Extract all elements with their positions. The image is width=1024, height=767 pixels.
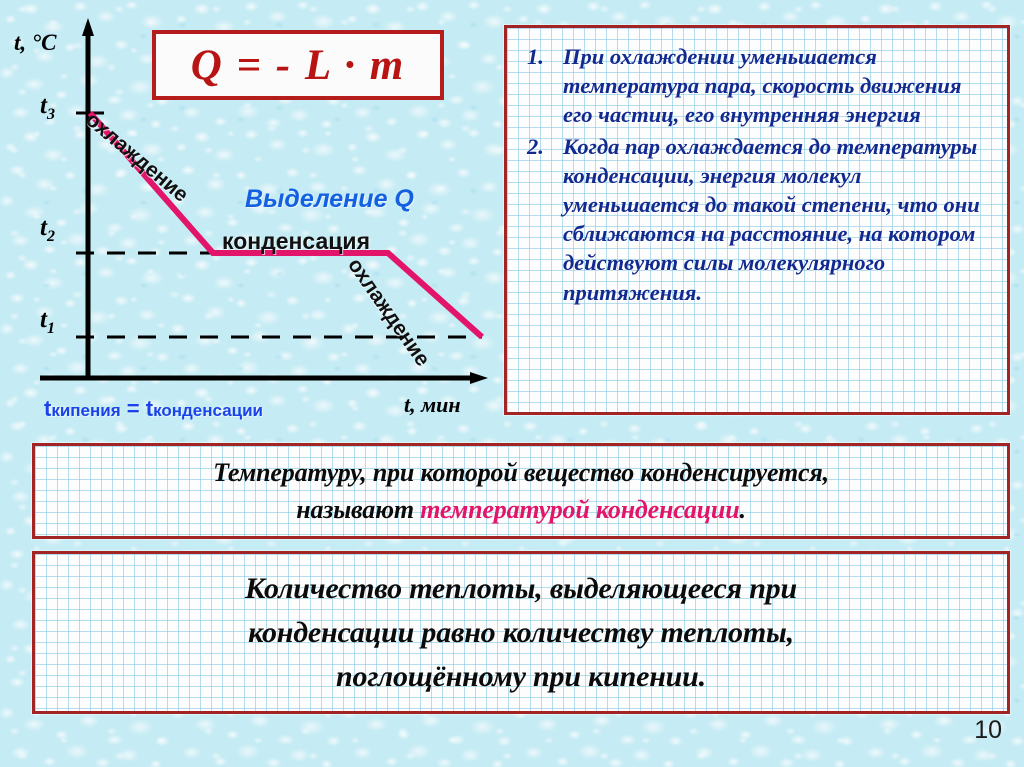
list-item-text: Когда пар охлаждается до температуры кон… — [563, 134, 980, 305]
y-tick-label-t2: t2 — [40, 214, 55, 246]
formula-box: Q = - L · m — [152, 30, 444, 100]
explanation-list: 1. При охлаждении уменьшается температур… — [507, 28, 1007, 307]
definition-panel: Температуру, при которой вещество конден… — [32, 443, 1010, 539]
definition-line-1: Температуру, при которой вещество конден… — [213, 454, 829, 491]
t2-subscript: 2 — [47, 228, 55, 245]
t3-letter: t — [40, 92, 47, 119]
definition-suffix: . — [739, 495, 745, 524]
list-item-text: При охлаждении уменьшается температура п… — [563, 44, 961, 127]
conclusion-line-2: конденсации равно количеству теплоты, — [248, 611, 794, 655]
definition-prefix: называют — [296, 495, 420, 524]
y-axis-arrow — [82, 18, 94, 36]
t2-letter: t — [40, 214, 47, 241]
t3-subscript: 3 — [47, 106, 55, 123]
conclusion-line-1: Количество теплоты, выделяющееся при — [245, 567, 797, 611]
formula-text: Q = - L · m — [191, 41, 406, 90]
boil-sub: кипения — [51, 401, 120, 420]
x-axis-label: t, мин — [404, 392, 461, 418]
page-number: 10 — [974, 716, 1002, 745]
y-axis-label: t, °C — [14, 30, 56, 56]
conclusion-panel: Количество теплоты, выделяющееся при кон… — [32, 551, 1010, 714]
definition-highlight: температурой конденсации — [420, 495, 739, 524]
y-tick-label-t3: t3 — [40, 92, 55, 124]
x-axis-arrow — [470, 372, 488, 384]
definition-content: Температуру, при которой вещество конден… — [35, 446, 1007, 536]
annotation-condensation: конденсация — [222, 228, 370, 255]
explanation-panel: 1. При охлаждении уменьшается температур… — [504, 25, 1010, 415]
cond-sub: конденсации — [153, 401, 263, 420]
y-tick-label-t1: t1 — [40, 306, 55, 338]
cooling-curve-line — [90, 113, 482, 337]
annotation-release-q: Выделение Q — [245, 185, 414, 214]
t1-subscript: 1 — [47, 320, 55, 337]
list-item-number: 1. — [527, 42, 544, 71]
equals-t: = t — [127, 396, 153, 421]
list-item-number: 2. — [527, 132, 544, 161]
t1-letter: t — [40, 306, 47, 333]
annotation-boiling-equals-condensation: tкипения = tконденсации — [44, 396, 263, 422]
list-item: 1. При охлаждении уменьшается температур… — [527, 42, 995, 130]
list-item: 2. Когда пар охлаждается до температуры … — [527, 132, 995, 307]
conclusion-line-3: поглощённому при кипении. — [336, 655, 706, 699]
conclusion-content: Количество теплоты, выделяющееся при кон… — [35, 554, 1007, 711]
definition-line-2: называют температурой конденсации. — [296, 491, 746, 528]
